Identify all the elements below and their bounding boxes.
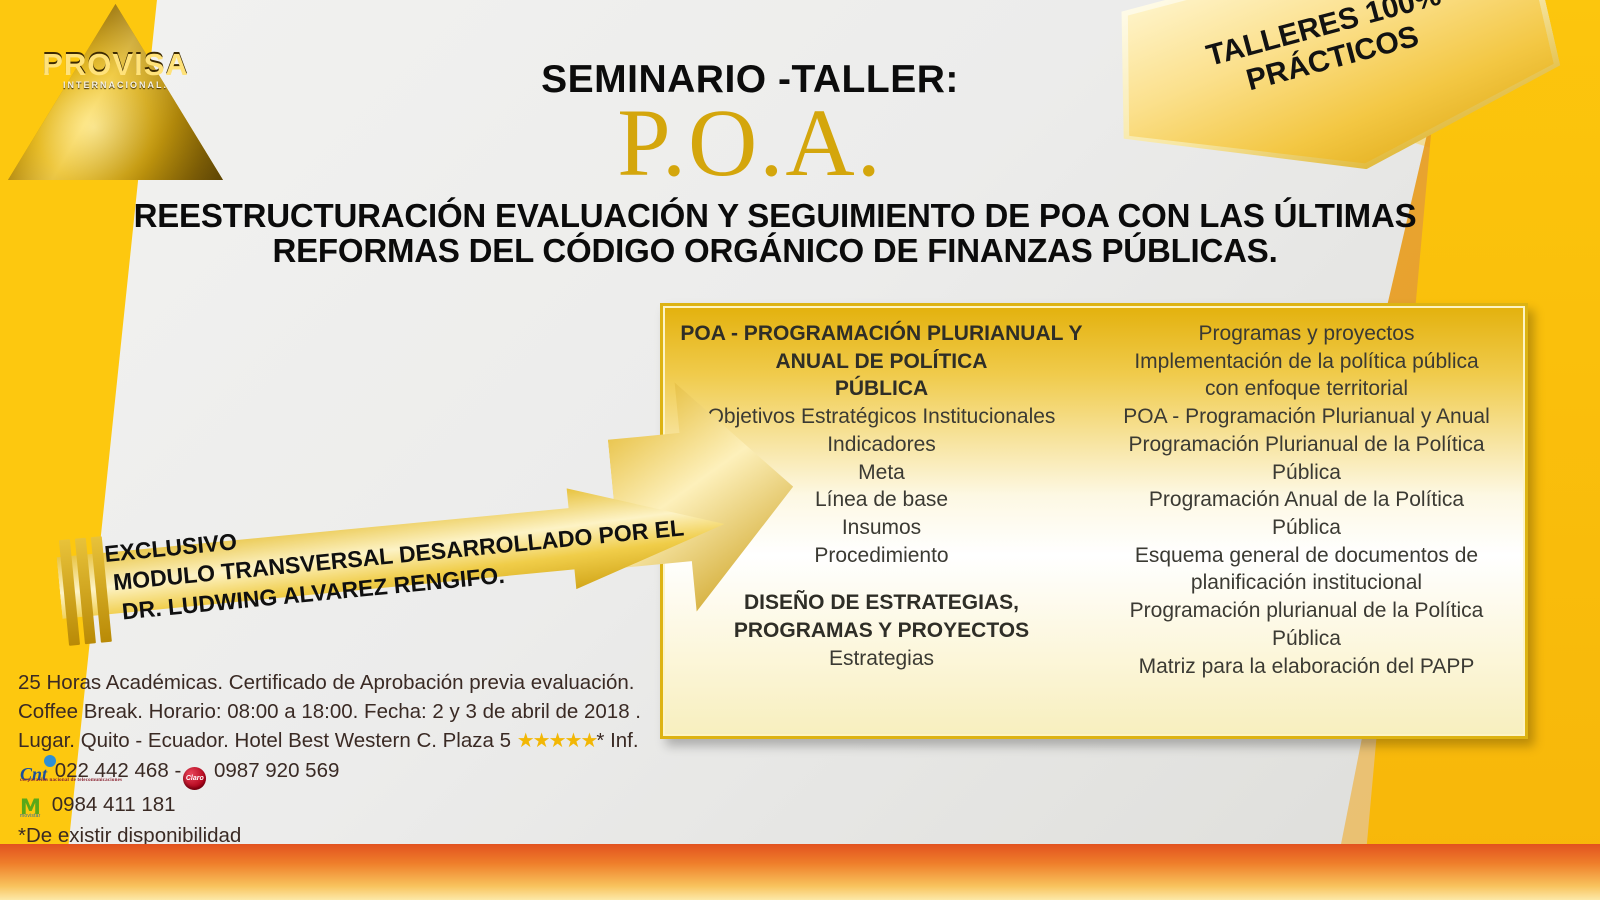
footer-details: 25 Horas Académicas. Certificado de Apro…: [18, 668, 663, 850]
page-subtitle: REESTRUCTURACIÓN EVALUACIÓN Y SEGUIMIENT…: [60, 198, 1490, 269]
cnt-logo-tagline: corporación nacional de telecomunicacion…: [20, 777, 122, 784]
logo-brand-name: PROVISA: [8, 46, 223, 82]
content-line: PÚBLICA: [669, 375, 1094, 403]
content-line: Programas y proyectos: [1094, 320, 1519, 348]
flyer-canvas: PROVISA INTERNACIONAL. SEMINARIO -TALLER…: [0, 0, 1600, 900]
content-line: Programación Plurianual de la Política: [1094, 431, 1519, 459]
content-line: planificación institucional: [1094, 569, 1519, 597]
logo-triangle-shading: [8, 4, 223, 180]
phone-claro: 0987 920 569: [214, 759, 339, 782]
content-line: Esquema general de documentos de: [1094, 542, 1519, 570]
cnt-logo-icon: Cntcorporación nacional de telecomunicac…: [20, 762, 47, 788]
claro-logo-icon: Claro: [183, 767, 206, 790]
content-line: POA - PROGRAMACIÓN PLURIANUAL Y: [669, 320, 1094, 348]
subtitle-line-1: REESTRUCTURACIÓN EVALUACIÓN Y SEGUIMIENT…: [60, 198, 1490, 233]
page-title: P.O.A.: [430, 95, 1070, 191]
content-panel: POA - PROGRAMACIÓN PLURIANUAL YANUAL DE …: [660, 303, 1528, 739]
content-line: PROGRAMAS Y PROYECTOS: [669, 617, 1094, 645]
content-line: Objetivos Estratégicos Institucionales: [669, 403, 1094, 431]
content-line: Estrategias: [669, 645, 1094, 673]
content-line: POA - Programación Plurianual y Anual: [1094, 403, 1519, 431]
content-line: Implementación de la política pública: [1094, 348, 1519, 376]
bottom-gradient-bar: [0, 844, 1600, 900]
rating-stars-icon: ★★★★★: [517, 730, 597, 752]
info-label: Inf.: [610, 729, 639, 752]
phone-separator: -: [174, 759, 181, 782]
content-line: ANUAL DE POLÍTICA: [669, 348, 1094, 376]
movistar-logo-tagline: movistar: [20, 813, 41, 820]
logo-tagline: INTERNACIONAL.: [8, 80, 223, 90]
content-line: Programación Anual de la Política: [1094, 486, 1519, 514]
provisa-logo: PROVISA INTERNACIONAL.: [8, 4, 223, 180]
cnt-logo-dot: [44, 755, 56, 767]
content-line: Pública: [1094, 514, 1519, 542]
movistar-phone-row: Mmovistar 0984 411 181: [18, 790, 663, 819]
content-line: Pública: [1094, 625, 1519, 653]
content-line: con enfoque territorial: [1094, 375, 1519, 403]
content-column-right: Programas y proyectosImplementación de l…: [1094, 320, 1519, 736]
content-line: Programación plurianual de la Política: [1094, 597, 1519, 625]
phone-movistar: 0984 411 181: [52, 793, 176, 816]
subtitle-line-2: REFORMAS DEL CÓDIGO ORGÁNICO DE FINANZAS…: [60, 233, 1490, 268]
stars-asterisk: *: [596, 729, 604, 752]
content-line: Pública: [1094, 459, 1519, 487]
movistar-logo-icon: Mmovistar: [20, 793, 44, 817]
arrow-banner-text: EXCLUSIVO MODULO TRANSVERSAL DESARROLLAD…: [103, 483, 709, 628]
content-line: Matriz para la elaboración del PAPP: [1094, 653, 1519, 681]
content-columns: POA - PROGRAMACIÓN PLURIANUAL YANUAL DE …: [663, 306, 1525, 736]
